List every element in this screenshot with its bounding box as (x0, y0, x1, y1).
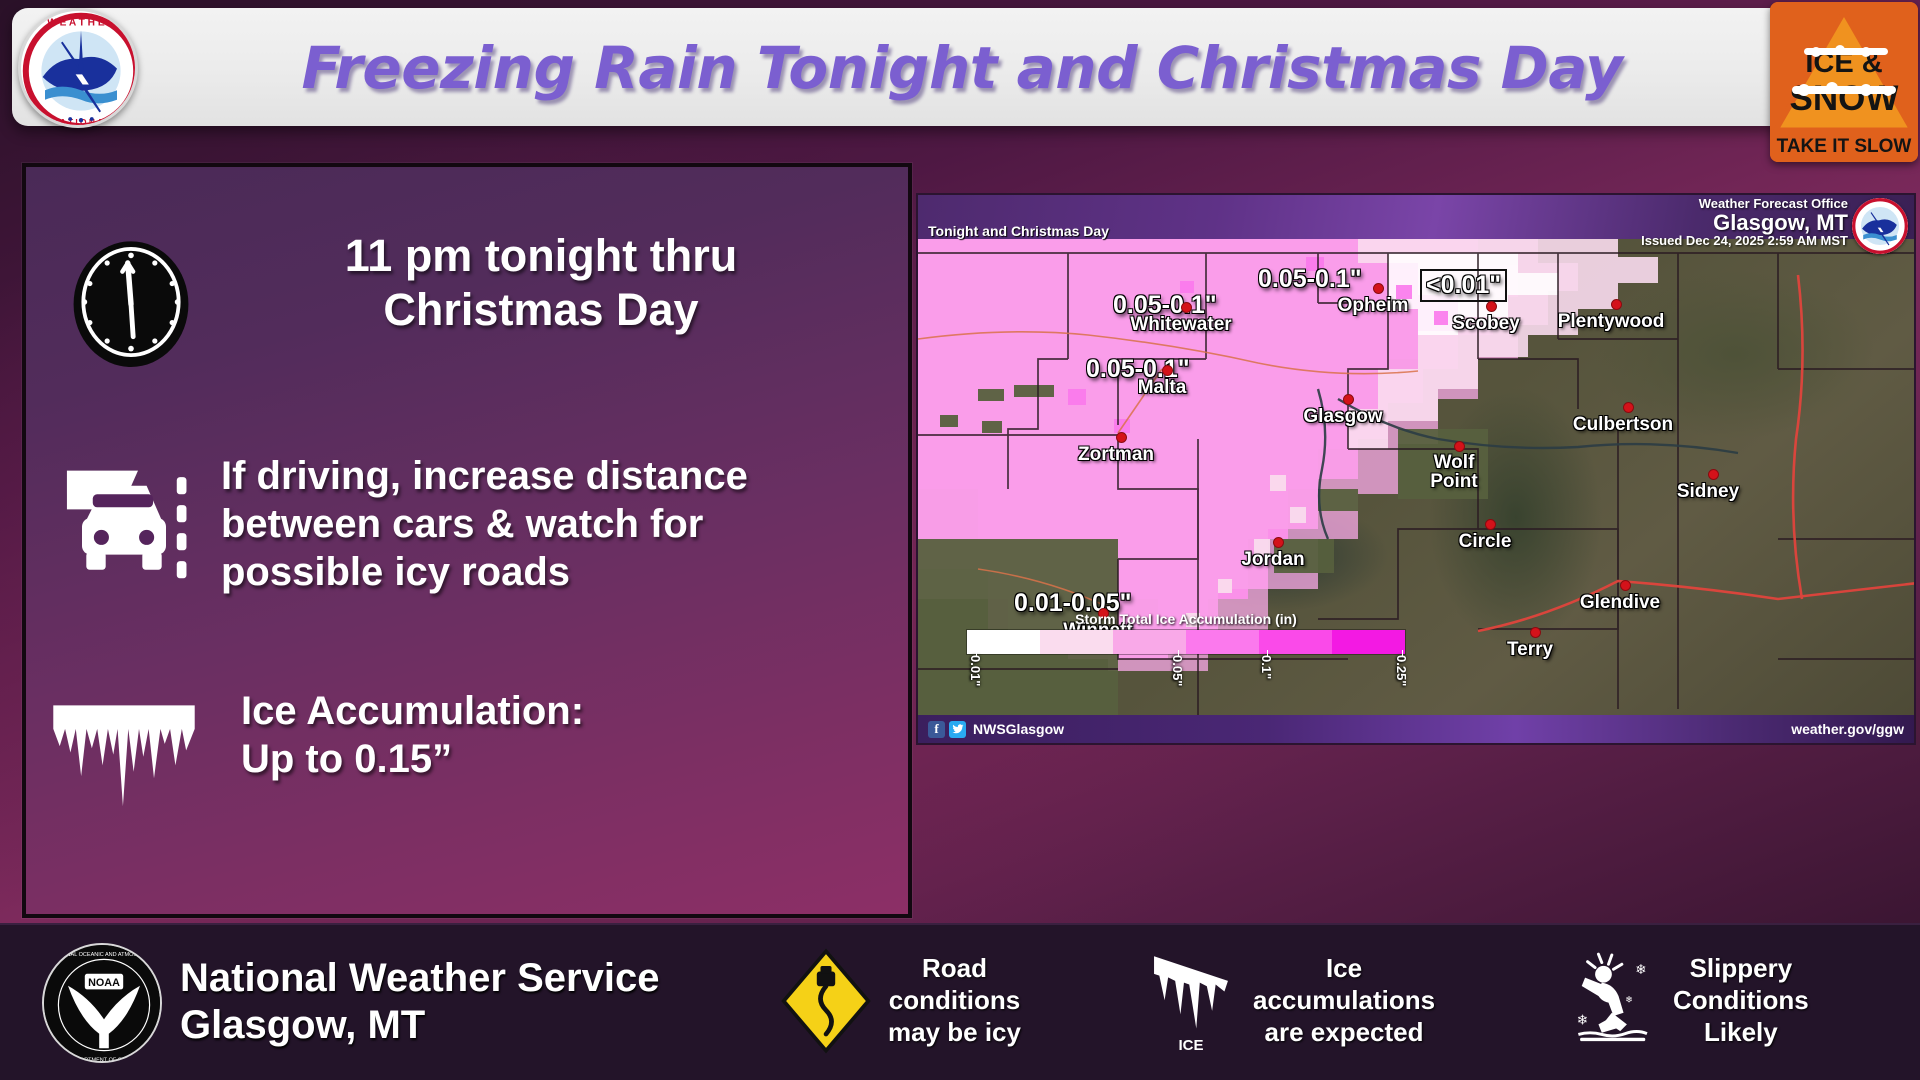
city-label: Glasgow (1303, 406, 1382, 428)
clock-icon (26, 229, 236, 367)
noaa-logo-icon: NOAA NATIONAL OCEANIC AND ATMOSPHERIC U.… (42, 943, 162, 1063)
twitter-icon[interactable] (949, 721, 966, 738)
map-footer-bar: f NWSGlasgow weather.gov/ggw (918, 715, 1914, 743)
svg-text:NATIONAL OCEANIC AND ATMOSPHER: NATIONAL OCEANIC AND ATMOSPHERIC (50, 952, 158, 958)
colorbar-gradient (966, 629, 1406, 655)
colorbar-ticks: 0.01" 0.05" 0.1" 0.25" (966, 655, 1406, 707)
bottom-footer: NOAA NATIONAL OCEANIC AND ATMOSPHERIC U.… (0, 923, 1920, 1080)
colorbar-tick: 0.1" (1259, 655, 1274, 679)
city-dot-icon (1373, 283, 1384, 294)
city-dot-icon (1162, 365, 1173, 376)
city-label: Terry (1507, 639, 1553, 661)
city-dot-icon (1708, 469, 1719, 480)
city-label: Circle (1459, 531, 1512, 553)
colorbar-legend: Storm Total Ice Accumulation (in) 0.01" … (966, 611, 1406, 707)
ice-and-snow-sign-icon: ICE & SNOW TAKE IT SLOW (1770, 2, 1918, 162)
footer-label: Ice accumulations are expected (1253, 953, 1435, 1048)
annotation-ice-range: <0.01" (1420, 269, 1507, 302)
colorbar-tick: 0.01" (968, 655, 983, 686)
left-info-panel: 11 pm tonight thru Christmas Day (22, 163, 912, 918)
nws-logo-icon: W E A T H E R N A T I O N A L (18, 8, 138, 128)
map-canvas[interactable]: 0.05-0.1" 0.05-0.1" <0.01" 0.05-0.1" 0.0… (918, 239, 1914, 719)
agency-name: National Weather Service Glasgow, MT (180, 955, 659, 1049)
footer-item-ice-accumulation: ICE Ice accumulations are expected (1145, 947, 1435, 1055)
city-dot-icon (1454, 441, 1465, 452)
weather-url[interactable]: weather.gov/ggw (1791, 721, 1904, 737)
annotation-ice-range: 0.05-0.1" (1258, 265, 1362, 294)
city-dot-icon (1116, 432, 1127, 443)
svg-text:NOAA: NOAA (88, 977, 120, 989)
issued-timestamp: Issued Dec 24, 2025 2:59 AM MST (1641, 234, 1848, 249)
facebook-icon[interactable]: f (928, 721, 945, 738)
city-dot-icon (1273, 537, 1284, 548)
info-row-timing: 11 pm tonight thru Christmas Day (26, 229, 916, 367)
svg-text:TAKE IT SLOW: TAKE IT SLOW (1777, 136, 1912, 157)
wfo-info: Weather Forecast Office Glasgow, MT Issu… (1641, 197, 1848, 249)
footer-label: Slippery Conditions Likely (1673, 953, 1809, 1048)
svg-text:❄: ❄ (1577, 1012, 1588, 1027)
city-dot-icon (1530, 627, 1541, 638)
footer-item-slippery-conditions: ❄ ❄ ❄ Slippery Conditions Likely (1565, 947, 1809, 1055)
colorbar-title: Storm Total Ice Accumulation (in) (966, 611, 1406, 627)
traffic-icon (26, 452, 221, 602)
footer-item-road-conditions: Road conditions may be icy (780, 947, 1021, 1055)
title-bar: Freezing Rain Tonight and Christmas Day (12, 8, 1802, 126)
city-label: Malta (1138, 377, 1187, 399)
slippery-road-sign-icon (780, 947, 872, 1055)
city-dot-icon (1343, 394, 1354, 405)
city-dot-icon (1623, 402, 1634, 413)
poster-root: Freezing Rain Tonight and Christmas Day … (0, 0, 1920, 1080)
icicle-ice-icon: ICE (1145, 947, 1237, 1055)
person-slipping-icon: ❄ ❄ ❄ (1565, 947, 1657, 1055)
svg-text:U.S. DEPARTMENT OF COMMERCE: U.S. DEPARTMENT OF COMMERCE (57, 1057, 150, 1063)
info-row-driving: If driving, increase distance between ca… (26, 452, 916, 602)
city-dot-icon (1181, 302, 1192, 313)
city-label: Jordan (1241, 549, 1304, 571)
ice-accumulation-text: Ice Accumulation: Up to 0.15” (221, 687, 861, 783)
page-title: Freezing Rain Tonight and Christmas Day (212, 22, 1712, 114)
city-dot-icon (1486, 301, 1497, 312)
svg-text:❄: ❄ (1625, 995, 1633, 1005)
city-label: Glendive (1580, 592, 1660, 614)
city-label: Culbertson (1573, 414, 1673, 436)
icon-caption: ICE (1178, 1037, 1203, 1054)
city-dot-icon (1620, 580, 1631, 591)
ice-forecast-map[interactable]: Ice Forecast Tonight and Christmas Day W… (916, 193, 1916, 745)
map-subtitle: Tonight and Christmas Day (928, 223, 1109, 239)
timing-text: 11 pm tonight thru Christmas Day (236, 229, 886, 337)
svg-text:❄: ❄ (1635, 962, 1646, 977)
city-dot-icon (1485, 519, 1496, 530)
city-label: Scobey (1452, 313, 1520, 335)
city-label: Sidney (1677, 481, 1739, 503)
city-label: Zortman (1078, 444, 1154, 466)
social-links[interactable]: f NWSGlasgow (928, 721, 1064, 738)
footer-label: Road conditions may be icy (888, 953, 1021, 1048)
nws-logo-icon-map (1852, 198, 1908, 254)
colorbar-tick: 0.05" (1170, 655, 1185, 686)
wfo-city: Glasgow, MT (1641, 211, 1848, 234)
social-handle: NWSGlasgow (973, 721, 1064, 737)
wfo-label: Weather Forecast Office (1641, 197, 1848, 211)
city-label: Whitewater (1130, 314, 1231, 336)
colorbar-tick: 0.25" (1394, 655, 1409, 686)
city-label: Wolf Point (1430, 453, 1478, 492)
info-row-ice-accumulation: Ice Accumulation: Up to 0.15” (26, 687, 916, 819)
svg-text:W E A T H E R: W E A T H E R (47, 17, 115, 28)
city-label: Opheim (1338, 295, 1409, 317)
driving-text: If driving, increase distance between ca… (221, 452, 861, 596)
icicle-icon (26, 687, 221, 819)
city-dot-icon (1611, 299, 1622, 310)
city-label: Plentywood (1558, 311, 1665, 333)
